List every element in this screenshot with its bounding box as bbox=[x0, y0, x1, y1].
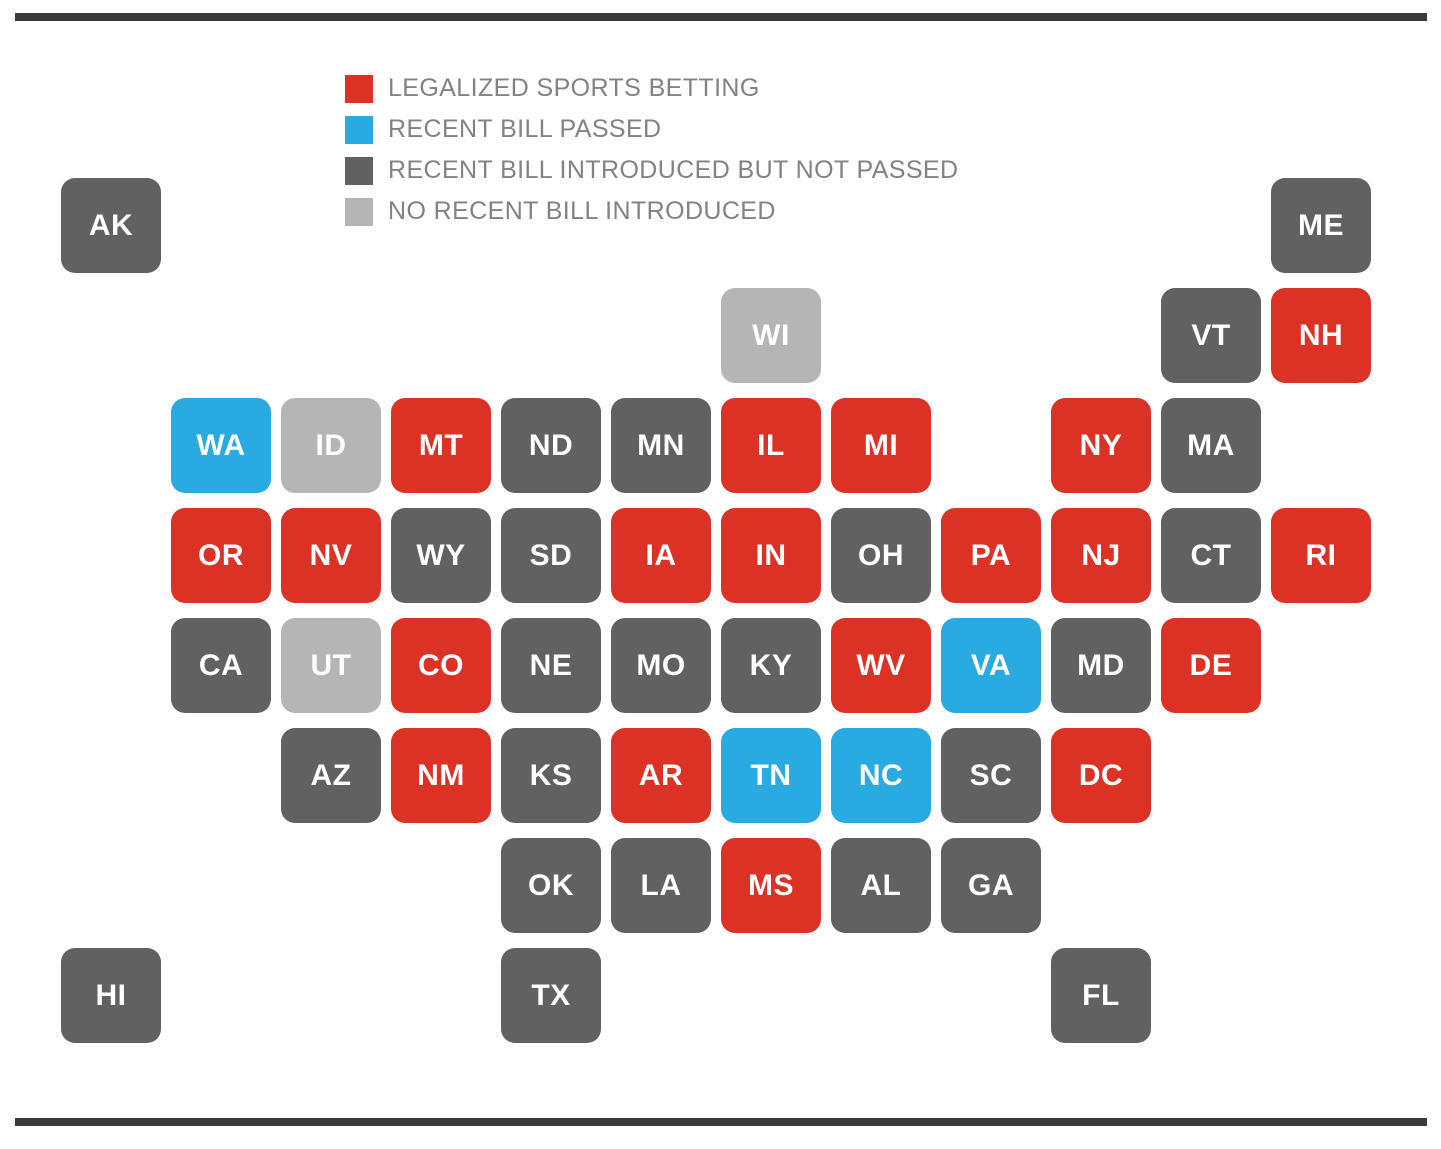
state-tile-wv[interactable]: WV bbox=[831, 618, 931, 713]
state-tile-tn[interactable]: TN bbox=[721, 728, 821, 823]
state-tile-ky[interactable]: KY bbox=[721, 618, 821, 713]
state-abbr-label: TN bbox=[751, 761, 792, 791]
state-tile-nv[interactable]: NV bbox=[281, 508, 381, 603]
state-tile-il[interactable]: IL bbox=[721, 398, 821, 493]
state-tile-mo[interactable]: MO bbox=[611, 618, 711, 713]
state-tile-wa[interactable]: WA bbox=[171, 398, 271, 493]
state-tile-wi[interactable]: WI bbox=[721, 288, 821, 383]
state-abbr-label: MN bbox=[637, 431, 685, 461]
state-abbr-label: WV bbox=[856, 651, 905, 681]
state-tile-la[interactable]: LA bbox=[611, 838, 711, 933]
state-tile-ny[interactable]: NY bbox=[1051, 398, 1151, 493]
state-abbr-label: IL bbox=[757, 431, 785, 461]
state-tile-ar[interactable]: AR bbox=[611, 728, 711, 823]
state-abbr-label: ME bbox=[1298, 211, 1344, 241]
state-abbr-label: NH bbox=[1299, 321, 1343, 351]
state-tile-ri[interactable]: RI bbox=[1271, 508, 1371, 603]
state-abbr-label: NJ bbox=[1081, 541, 1120, 571]
state-abbr-label: MI bbox=[864, 431, 898, 461]
state-abbr-label: NY bbox=[1080, 431, 1123, 461]
state-tile-ca[interactable]: CA bbox=[171, 618, 271, 713]
state-tile-oh[interactable]: OH bbox=[831, 508, 931, 603]
state-tile-sc[interactable]: SC bbox=[941, 728, 1041, 823]
state-tile-ga[interactable]: GA bbox=[941, 838, 1041, 933]
state-tile-de[interactable]: DE bbox=[1161, 618, 1261, 713]
state-tile-mt[interactable]: MT bbox=[391, 398, 491, 493]
state-tile-co[interactable]: CO bbox=[391, 618, 491, 713]
state-abbr-label: NV bbox=[310, 541, 353, 571]
state-tile-vt[interactable]: VT bbox=[1161, 288, 1261, 383]
state-abbr-label: LA bbox=[641, 871, 682, 901]
state-tile-in[interactable]: IN bbox=[721, 508, 821, 603]
state-abbr-label: WY bbox=[416, 541, 465, 571]
state-tile-nm[interactable]: NM bbox=[391, 728, 491, 823]
state-tile-al[interactable]: AL bbox=[831, 838, 931, 933]
state-tile-fl[interactable]: FL bbox=[1051, 948, 1151, 1043]
state-tile-tx[interactable]: TX bbox=[501, 948, 601, 1043]
state-tile-nc[interactable]: NC bbox=[831, 728, 931, 823]
state-abbr-label: ID bbox=[316, 431, 347, 461]
state-abbr-label: CO bbox=[418, 651, 464, 681]
state-tile-sd[interactable]: SD bbox=[501, 508, 601, 603]
state-abbr-label: KS bbox=[530, 761, 573, 791]
state-abbr-label: AZ bbox=[311, 761, 352, 791]
state-abbr-label: NE bbox=[530, 651, 573, 681]
state-abbr-label: MD bbox=[1077, 651, 1125, 681]
state-abbr-label: OR bbox=[198, 541, 244, 571]
state-tile-nh[interactable]: NH bbox=[1271, 288, 1371, 383]
state-tile-hi[interactable]: HI bbox=[61, 948, 161, 1043]
state-tile-or[interactable]: OR bbox=[171, 508, 271, 603]
state-abbr-label: VT bbox=[1191, 321, 1230, 351]
state-abbr-label: NM bbox=[417, 761, 465, 791]
state-abbr-label: VA bbox=[971, 651, 1011, 681]
state-abbr-label: PA bbox=[971, 541, 1011, 571]
state-abbr-label: MT bbox=[419, 431, 463, 461]
state-abbr-label: AL bbox=[861, 871, 902, 901]
state-tile-ak[interactable]: AK bbox=[61, 178, 161, 273]
state-abbr-label: CT bbox=[1191, 541, 1232, 571]
state-abbr-label: AK bbox=[89, 211, 133, 241]
state-abbr-label: OK bbox=[528, 871, 574, 901]
state-abbr-label: MA bbox=[1187, 431, 1235, 461]
state-abbr-label: IN bbox=[756, 541, 787, 571]
state-tile-ms[interactable]: MS bbox=[721, 838, 821, 933]
state-abbr-label: UT bbox=[311, 651, 352, 681]
state-abbr-label: WI bbox=[752, 321, 790, 351]
state-tile-va[interactable]: VA bbox=[941, 618, 1041, 713]
state-abbr-label: SC bbox=[970, 761, 1013, 791]
state-abbr-label: OH bbox=[858, 541, 904, 571]
state-tile-ma[interactable]: MA bbox=[1161, 398, 1261, 493]
state-abbr-label: ND bbox=[529, 431, 573, 461]
state-abbr-label: AR bbox=[639, 761, 683, 791]
state-abbr-label: KY bbox=[750, 651, 793, 681]
state-tile-ct[interactable]: CT bbox=[1161, 508, 1261, 603]
state-abbr-label: CA bbox=[199, 651, 243, 681]
state-abbr-label: SD bbox=[530, 541, 573, 571]
state-tile-dc[interactable]: DC bbox=[1051, 728, 1151, 823]
state-tile-me[interactable]: ME bbox=[1271, 178, 1371, 273]
state-tile-ne[interactable]: NE bbox=[501, 618, 601, 713]
state-tile-mi[interactable]: MI bbox=[831, 398, 931, 493]
state-abbr-label: HI bbox=[96, 981, 127, 1011]
state-tile-pa[interactable]: PA bbox=[941, 508, 1041, 603]
state-abbr-label: RI bbox=[1306, 541, 1337, 571]
state-abbr-label: GA bbox=[968, 871, 1014, 901]
state-abbr-label: MO bbox=[636, 651, 685, 681]
state-abbr-label: NC bbox=[859, 761, 903, 791]
bottom-divider-rule bbox=[15, 1118, 1427, 1126]
state-abbr-label: IA bbox=[646, 541, 677, 571]
state-tile-ia[interactable]: IA bbox=[611, 508, 711, 603]
state-tile-wy[interactable]: WY bbox=[391, 508, 491, 603]
state-abbr-label: FL bbox=[1082, 981, 1120, 1011]
state-tile-az[interactable]: AZ bbox=[281, 728, 381, 823]
state-tile-ut[interactable]: UT bbox=[281, 618, 381, 713]
state-abbr-label: TX bbox=[531, 981, 570, 1011]
state-abbr-label: MS bbox=[748, 871, 794, 901]
state-abbr-label: WA bbox=[196, 431, 245, 461]
state-tile-id[interactable]: ID bbox=[281, 398, 381, 493]
state-tile-mn[interactable]: MN bbox=[611, 398, 711, 493]
state-tile-md[interactable]: MD bbox=[1051, 618, 1151, 713]
state-grid-map: AKMEWIVTNHWAIDMTNDMNILMINYMAORNVWYSDIAIN… bbox=[0, 0, 1441, 1149]
state-tile-ok[interactable]: OK bbox=[501, 838, 601, 933]
state-abbr-label: DC bbox=[1079, 761, 1123, 791]
state-tile-ks[interactable]: KS bbox=[501, 728, 601, 823]
state-abbr-label: DE bbox=[1190, 651, 1233, 681]
state-tile-nd[interactable]: ND bbox=[501, 398, 601, 493]
state-tile-nj[interactable]: NJ bbox=[1051, 508, 1151, 603]
